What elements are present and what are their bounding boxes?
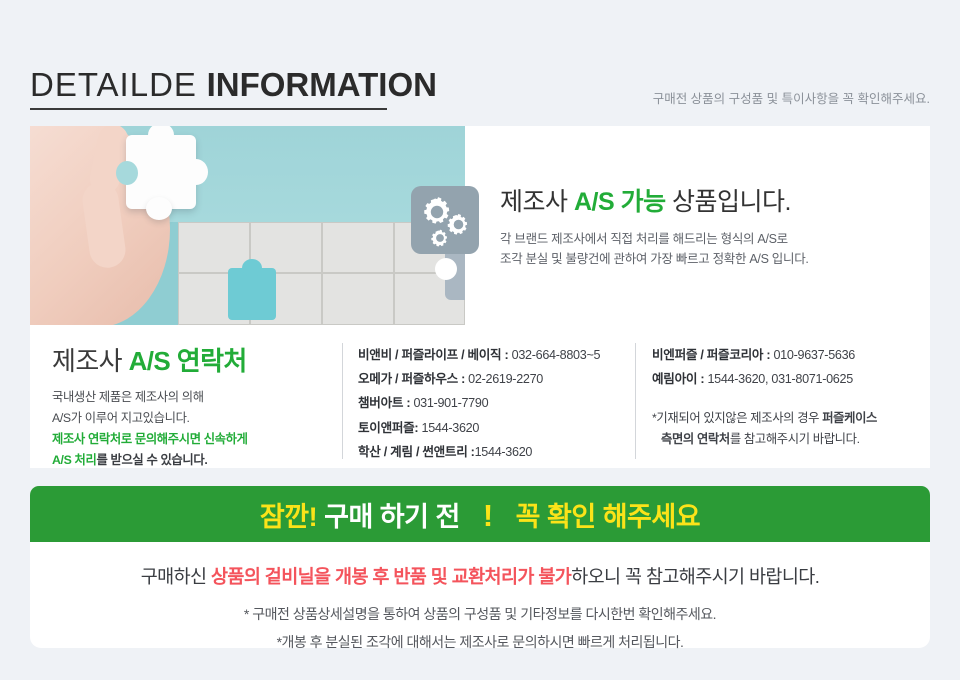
- page-title: DETAILDE INFORMATION: [30, 66, 437, 104]
- banner-exclamation: !: [483, 498, 493, 533]
- as-subtext: 각 브랜드 제조사에서 직접 처리를 해드리는 형식의 A/S로 조각 분실 및…: [500, 229, 920, 270]
- contact-row: 학산 / 계림 / 썬앤트리 :1544-3620: [358, 440, 638, 464]
- footnote-bold-1: 퍼즐케이스: [822, 411, 877, 425]
- contact-desc-line-4-dark: 를 받으실 수 있습니다.: [96, 453, 207, 467]
- as-title-highlight: A/S 가능: [574, 188, 666, 216]
- puzzle-photo: [30, 126, 465, 325]
- contact-list-right: 비엔퍼즐 / 퍼즐코리아 : 010-9637-5636 예림아이 : 1544…: [652, 343, 922, 450]
- contact-section: 제조사 A/S 연락처 국내생산 제품은 제조사의 의해 A/S가 이루어 지고…: [30, 325, 930, 468]
- contact-footnote-line-1: *기재되어 있지않은 제조사의 경우 퍼즐케이스: [652, 408, 922, 429]
- contact-phone: 1544-3620: [418, 421, 479, 435]
- contact-row: 오메가 / 퍼즐하우스 : 02-2619-2270: [358, 367, 638, 391]
- title-underline: [30, 108, 387, 110]
- contact-title-highlight: A/S 연락처: [129, 346, 247, 376]
- contact-name: 오메가 / 퍼즐하우스 :: [358, 372, 465, 386]
- as-sub-line-1: 각 브랜드 제조사에서 직접 처리를 해드리는 형식의 A/S로: [500, 229, 920, 249]
- warning-main-text: 구매하신 상품의 겉비닐을 개봉 후 반품 및 교환처리가 불가하오니 꼭 참고…: [30, 563, 930, 589]
- contact-name: 비엔퍼즐 / 퍼즐코리아 :: [652, 348, 770, 362]
- contact-phone: 1544-3620, 031-8071-0625: [704, 372, 853, 386]
- contact-phone: 02-2619-2270: [465, 372, 543, 386]
- contact-footnote-line-2: 측면의 연락처를 참고해주시기 바랍니다.: [652, 429, 922, 450]
- banner-part-3: 꼭 확인 해주세요: [516, 502, 700, 532]
- warning-main-post: 하오니 꼭 참고해주시기 바랍니다.: [571, 566, 819, 587]
- contact-description: 국내생산 제품은 제조사의 의해 A/S가 이루어 지고있습니다. 제조사 연락…: [52, 387, 322, 472]
- contact-row: 예림아이 : 1544-3620, 031-8071-0625: [652, 367, 922, 391]
- warning-main-pre: 구매하신: [141, 566, 211, 587]
- column-divider-1: [342, 343, 343, 459]
- contact-list-middle: 비앤비 / 퍼즐라이프 / 베이직 : 032-664-8803~5 오메가 /…: [358, 343, 638, 464]
- notice-banner: 잠깐! 구매 하기 전 ! 꼭 확인 해주세요: [30, 486, 930, 542]
- footnote-bold-2: 측면의 연락처: [661, 432, 730, 446]
- contact-desc-line-3: 제조사 연락처로 문의해주시면 신속하게: [52, 429, 322, 450]
- contact-row: 토이앤퍼즐: 1544-3620: [358, 416, 638, 440]
- contact-phone: 031-901-7790: [410, 396, 488, 410]
- contact-phone: 010-9637-5636: [770, 348, 855, 362]
- page-title-bold: INFORMATION: [207, 66, 437, 103]
- page-header: DETAILDE INFORMATION 구매전 상품의 구성품 및 특이사항을…: [30, 66, 930, 112]
- contact-name: 토이앤퍼즐:: [358, 421, 418, 435]
- contact-desc-line-4: A/S 처리를 받으실 수 있습니다.: [52, 450, 322, 471]
- gears-icon: [411, 186, 479, 254]
- warning-line-3: *개봉 후 분실된 조각에 대해서는 제조사로 문의하시면 빠르게 처리됩니다.: [30, 632, 930, 652]
- as-title-prefix: 제조사: [500, 188, 574, 216]
- contact-desc-line-1: 국내생산 제품은 제조사의 의해: [52, 387, 322, 408]
- contact-desc-line-2: A/S가 이루어 지고있습니다.: [52, 408, 322, 429]
- footnote-pre: *기재되어 있지않은 제조사의 경우: [652, 411, 822, 425]
- as-title: 제조사 A/S 가능 상품입니다.: [500, 182, 920, 218]
- contact-row: 비엔퍼즐 / 퍼즐코리아 : 010-9637-5636: [652, 343, 922, 367]
- as-sub-line-2: 조각 분실 및 불량건에 관하여 가장 빠르고 정확한 A/S 입니다.: [500, 249, 920, 269]
- contact-intro: 제조사 A/S 연락처 국내생산 제품은 제조사의 의해 A/S가 이루어 지고…: [52, 341, 322, 472]
- header-note: 구매전 상품의 구성품 및 특이사항을 꼭 확인해주세요.: [653, 88, 930, 107]
- contact-row: 비앤비 / 퍼즐라이프 / 베이직 : 032-664-8803~5: [358, 343, 638, 367]
- product-detail-page: DETAILDE INFORMATION 구매전 상품의 구성품 및 특이사항을…: [0, 0, 960, 680]
- contact-name: 비앤비 / 퍼즐라이프 / 베이직 :: [358, 348, 508, 362]
- as-info-card: 제조사 A/S 가능 상품입니다. 각 브랜드 제조사에서 직접 처리를 해드리…: [30, 126, 930, 468]
- contact-name: 예림아이 :: [652, 372, 704, 386]
- as-title-suffix: 상품입니다.: [666, 188, 791, 216]
- as-text-block: 제조사 A/S 가능 상품입니다. 각 브랜드 제조사에서 직접 처리를 해드리…: [500, 182, 920, 270]
- contact-phone: 1544-3620: [475, 445, 533, 459]
- warning-line-2: * 구매전 상품상세설명을 통하여 상품의 구성품 및 기타정보를 다시한번 확…: [30, 604, 930, 624]
- contact-desc-line-4-green: A/S 처리: [52, 453, 96, 467]
- warning-main-red: 상품의 겉비닐을 개봉 후 반품 및 교환처리가 불가: [211, 566, 571, 587]
- held-puzzle-piece: [126, 135, 196, 209]
- contact-title: 제조사 A/S 연락처: [52, 341, 322, 378]
- contact-name: 챔버아트 :: [358, 396, 410, 410]
- page-title-thin: DETAILDE: [30, 66, 197, 103]
- contact-phone: 032-664-8803~5: [508, 348, 600, 362]
- contact-name: 학산 / 계림 / 썬앤트리 :: [358, 445, 475, 459]
- warning-card: 구매하신 상품의 겉비닐을 개봉 후 반품 및 교환처리가 불가하오니 꼭 참고…: [30, 542, 930, 648]
- banner-part-1: 잠깐!: [260, 502, 317, 532]
- contact-title-prefix: 제조사: [52, 346, 129, 376]
- empty-puzzle-slot: [228, 268, 276, 320]
- banner-part-2: 구매 하기 전: [324, 502, 460, 532]
- footnote-post: 를 참고해주시기 바랍니다.: [730, 432, 860, 446]
- contact-footnote: *기재되어 있지않은 제조사의 경우 퍼즐케이스 측면의 연락처를 참고해주시기…: [652, 408, 922, 450]
- contact-row: 챔버아트 : 031-901-7790: [358, 391, 638, 415]
- notice-banner-text: 잠깐! 구매 하기 전 ! 꼭 확인 해주세요: [260, 495, 700, 534]
